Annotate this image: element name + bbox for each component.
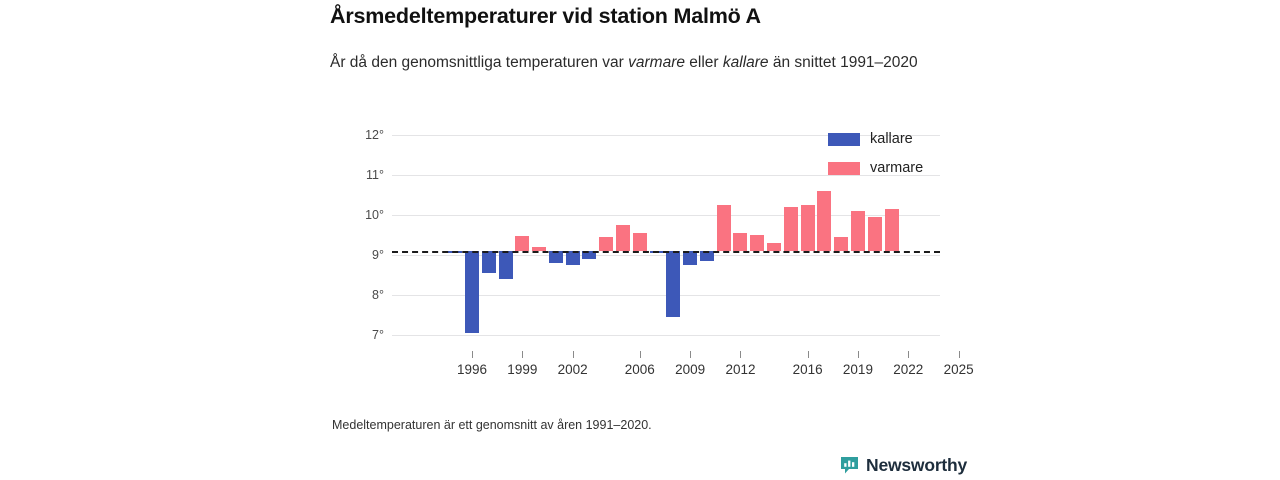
page-title: Årsmedeltemperaturer vid station Malmö A	[330, 4, 1090, 29]
bar-2017[interactable]	[817, 191, 831, 251]
bar-2021[interactable]	[885, 209, 899, 251]
bar-2006[interactable]	[633, 233, 647, 251]
x-axis-tick	[740, 351, 741, 358]
chart-page: Årsmedeltemperaturer vid station Malmö A…	[0, 0, 1280, 480]
average-baseline	[392, 251, 940, 253]
bar-2002[interactable]	[566, 251, 580, 265]
y-axis-tick-label: 11°	[328, 168, 384, 182]
x-axis-tick-label: 2022	[893, 362, 923, 377]
bar-2018[interactable]	[834, 237, 848, 251]
y-axis-tick-label: 7°	[328, 328, 384, 342]
x-axis-tick	[640, 351, 641, 358]
bar-chart-icon	[840, 456, 859, 475]
x-axis-tick	[472, 351, 473, 358]
bar-1996[interactable]	[465, 251, 479, 333]
legend-swatch	[828, 162, 860, 175]
bar-1997[interactable]	[482, 251, 496, 273]
page-subtitle: År då den genomsnittliga temperaturen va…	[330, 52, 930, 73]
x-axis-tick	[522, 351, 523, 358]
bar-2016[interactable]	[801, 205, 815, 251]
bar-chart: 7°8°9°10°11°12° 199619992002200620092012…	[330, 118, 940, 358]
gridline	[392, 335, 940, 336]
x-axis-tick-label: 2002	[558, 362, 588, 377]
bar-2019[interactable]	[851, 211, 865, 251]
bar-2004[interactable]	[599, 237, 613, 251]
bar-2013[interactable]	[750, 235, 764, 251]
x-axis-tick	[808, 351, 809, 358]
x-axis-tick-label: 1996	[457, 362, 487, 377]
brand-logo[interactable]: Newsworthy	[840, 455, 967, 476]
bar-2012[interactable]	[733, 233, 747, 251]
x-axis-tick	[573, 351, 574, 358]
brand-name: Newsworthy	[866, 455, 967, 476]
x-axis-tick	[690, 351, 691, 358]
subtitle-emphasis-kallare: kallare	[723, 54, 769, 71]
x-axis-tick-label: 1999	[507, 362, 537, 377]
bar-2014[interactable]	[767, 243, 781, 251]
bar-2008[interactable]	[666, 251, 680, 317]
legend-label: varmare	[870, 160, 923, 176]
legend-label: kallare	[870, 131, 913, 147]
subtitle-part-2: eller	[685, 54, 723, 71]
x-axis-tick-label: 2025	[944, 362, 974, 377]
x-axis-tick-label: 2009	[675, 362, 705, 377]
y-axis-tick-label: 9°	[328, 248, 384, 262]
legend-swatch	[828, 133, 860, 146]
x-axis-tick	[858, 351, 859, 358]
x-axis-tick-label: 2016	[793, 362, 823, 377]
x-axis: 1996199920022006200920122016201920222025	[392, 351, 940, 391]
bar-2011[interactable]	[717, 205, 731, 251]
y-axis-tick-label: 8°	[328, 288, 384, 302]
bar-1998[interactable]	[499, 251, 513, 279]
x-axis-tick	[908, 351, 909, 358]
legend-item-kallare[interactable]: kallare	[828, 128, 948, 150]
bar-2009[interactable]	[683, 251, 697, 265]
subtitle-part-1: År då den genomsnittliga temperaturen va…	[330, 54, 628, 71]
subtitle-part-3: än snittet 1991–2020	[769, 54, 918, 71]
y-axis-tick-label: 12°	[328, 128, 384, 142]
bar-2015[interactable]	[784, 207, 798, 251]
bar-2020[interactable]	[868, 217, 882, 251]
y-axis-tick-label: 10°	[328, 208, 384, 222]
bar-2005[interactable]	[616, 225, 630, 251]
x-axis-tick-label: 2012	[725, 362, 755, 377]
bar-1999[interactable]	[515, 236, 529, 251]
chart-legend: kallarevarmare	[828, 128, 948, 186]
subtitle-emphasis-varmare: varmare	[628, 54, 685, 71]
footnote: Medeltemperaturen är ett genomsnitt av å…	[332, 418, 652, 432]
x-axis-tick-label: 2006	[625, 362, 655, 377]
legend-item-varmare[interactable]: varmare	[828, 157, 948, 179]
x-axis-tick-label: 2019	[843, 362, 873, 377]
x-axis-tick	[959, 351, 960, 358]
